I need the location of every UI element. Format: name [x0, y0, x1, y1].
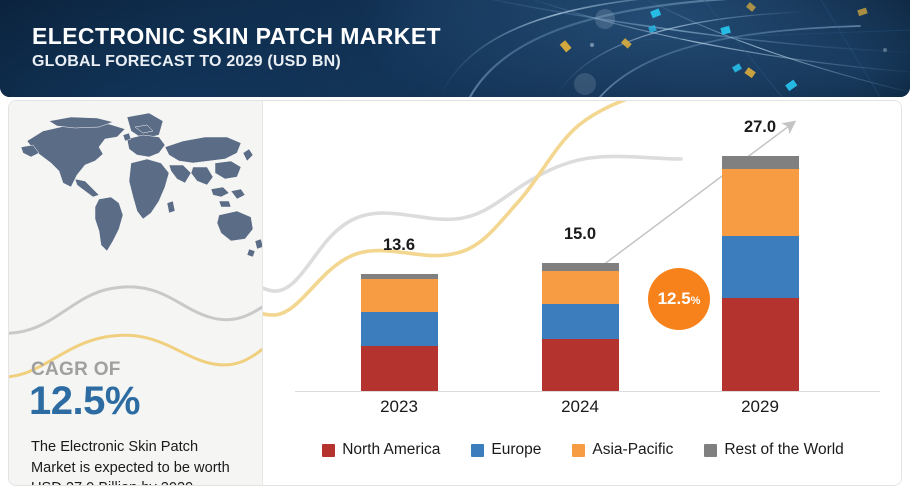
bar-segment-rest-of-the-world [722, 156, 799, 169]
bar-2023[interactable] [361, 274, 438, 391]
header-banner: ELECTRONIC SKIN PATCH MARKET GLOBAL FORE… [0, 0, 910, 97]
page-subtitle: GLOBAL FORECAST TO 2029 (USD BN) [32, 53, 441, 71]
legend-item-europe[interactable]: Europe [471, 441, 541, 459]
x-axis-label-2024: 2024 [561, 397, 599, 417]
bar-segment-north-america [542, 339, 619, 391]
bar-segment-north-america [361, 346, 438, 391]
legend-swatch-europe [471, 444, 484, 457]
bar-segment-rest-of-the-world [542, 263, 619, 271]
legend-label-rest-of-the-world: Rest of the World [724, 441, 843, 459]
cagr-badge-number: 12.5 [658, 268, 691, 330]
chart-area: 13.6 2023 15.0 2024 27.0 [263, 101, 902, 486]
world-map [13, 107, 263, 265]
chart-legend: North America Europe Asia-Pacific Rest o… [263, 441, 902, 459]
legend-item-asia-pacific[interactable]: Asia-Pacific [572, 441, 673, 459]
legend-item-rest-of-the-world[interactable]: Rest of the World [704, 441, 843, 459]
legend-swatch-rest-of-the-world [704, 444, 717, 457]
sidebar: CAGR OF 12.5% The Electronic Skin Patch … [9, 101, 263, 485]
axis-baseline [295, 391, 880, 392]
world-map-svg [13, 107, 263, 265]
bar-segment-asia-pacific [722, 169, 799, 236]
bar-value-2023: 13.6 [383, 236, 415, 255]
bar-segment-asia-pacific [361, 279, 438, 312]
bar-value-2029: 27.0 [744, 118, 776, 137]
legend-label-europe: Europe [491, 441, 541, 459]
bar-segment-europe [542, 304, 619, 339]
x-axis-label-2023: 2023 [380, 397, 418, 417]
legend-label-north-america: North America [342, 441, 440, 459]
legend-swatch-north-america [322, 444, 335, 457]
bar-segment-asia-pacific [542, 271, 619, 304]
bar-segment-europe [722, 236, 799, 298]
bar-segment-europe [361, 312, 438, 346]
plot-region: 13.6 2023 15.0 2024 27.0 [263, 101, 902, 486]
cagr-label: CAGR OF [31, 359, 121, 381]
bar-2029[interactable] [722, 156, 799, 391]
cagr-value: 12.5% [29, 379, 140, 424]
x-axis-label-2029: 2029 [741, 397, 779, 417]
cagr-badge: 12.5% [648, 268, 710, 330]
bar-value-2024: 15.0 [564, 225, 596, 244]
header-text-block: ELECTRONIC SKIN PATCH MARKET GLOBAL FORE… [32, 24, 441, 71]
page-title: ELECTRONIC SKIN PATCH MARKET [32, 24, 441, 50]
infographic-page: ELECTRONIC SKIN PATCH MARKET GLOBAL FORE… [0, 0, 910, 493]
cagr-badge-percent: % [691, 270, 701, 332]
bar-segment-north-america [722, 298, 799, 391]
legend-label-asia-pacific: Asia-Pacific [592, 441, 673, 459]
legend-item-north-america[interactable]: North America [322, 441, 440, 459]
sidebar-description: The Electronic Skin Patch Market is expe… [31, 437, 243, 485]
legend-swatch-asia-pacific [572, 444, 585, 457]
content-panel: CAGR OF 12.5% The Electronic Skin Patch … [8, 100, 902, 486]
bar-2024[interactable] [542, 263, 619, 391]
